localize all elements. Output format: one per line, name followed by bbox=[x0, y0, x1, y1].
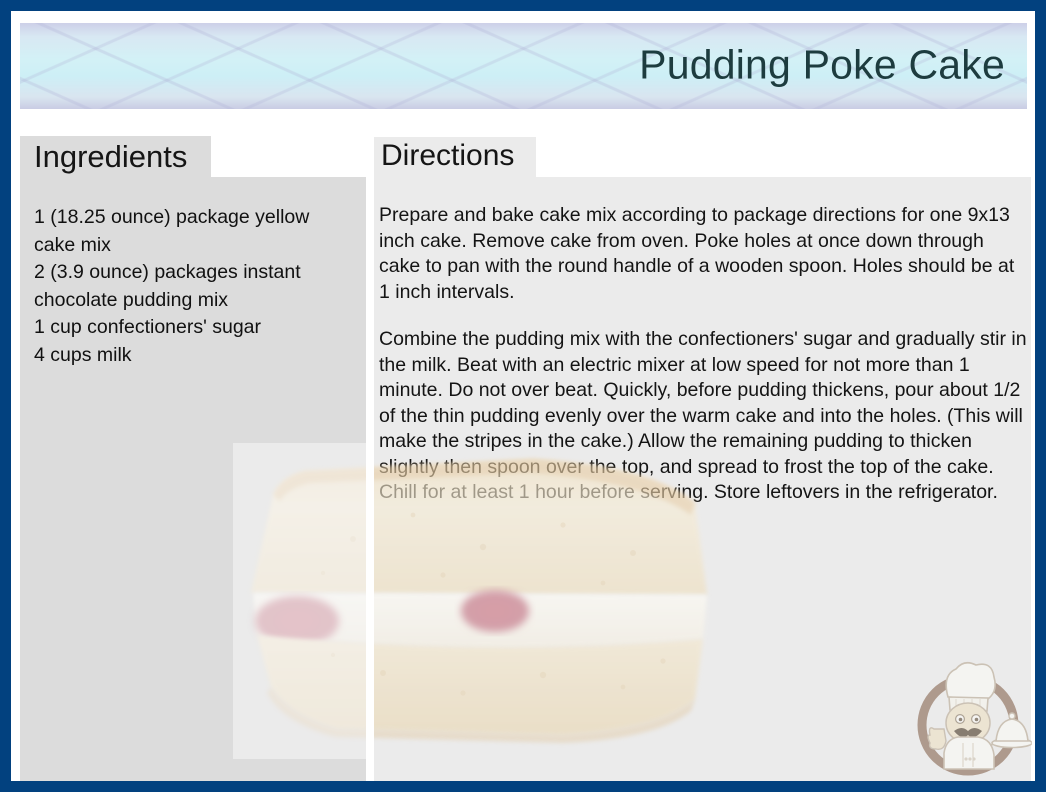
page-title: Pudding Poke Cake bbox=[639, 42, 1005, 89]
list-item: 1 cup confectioners' sugar bbox=[34, 314, 354, 342]
ingredients-tab-label: Ingredients bbox=[34, 139, 187, 175]
directions-tab-label: Directions bbox=[381, 139, 514, 173]
header-banner: Pudding Poke Cake bbox=[20, 23, 1027, 109]
directions-body: Prepare and bake cake mix according to p… bbox=[379, 203, 1027, 506]
ingredients-panel: 1 (18.25 ounce) package yellow cake mix … bbox=[20, 177, 366, 791]
directions-tab: Directions bbox=[374, 137, 536, 177]
recipe-card: Pudding Poke Cake Ingredients 1 (18.25 o… bbox=[0, 0, 1046, 792]
column-gutter bbox=[366, 177, 374, 791]
ingredients-list: 1 (18.25 ounce) package yellow cake mix … bbox=[34, 204, 354, 369]
list-item: 1 (18.25 ounce) package yellow cake mix bbox=[34, 204, 354, 259]
directions-panel: Prepare and bake cake mix according to p… bbox=[374, 177, 1031, 791]
list-item: 2 (3.9 ounce) packages instant chocolate… bbox=[34, 259, 354, 314]
ingredients-tab: Ingredients bbox=[20, 136, 211, 177]
directions-paragraph: Prepare and bake cake mix according to p… bbox=[379, 203, 1027, 305]
list-item: 4 cups milk bbox=[34, 342, 354, 370]
directions-paragraph: Combine the pudding mix with the confect… bbox=[379, 327, 1027, 506]
